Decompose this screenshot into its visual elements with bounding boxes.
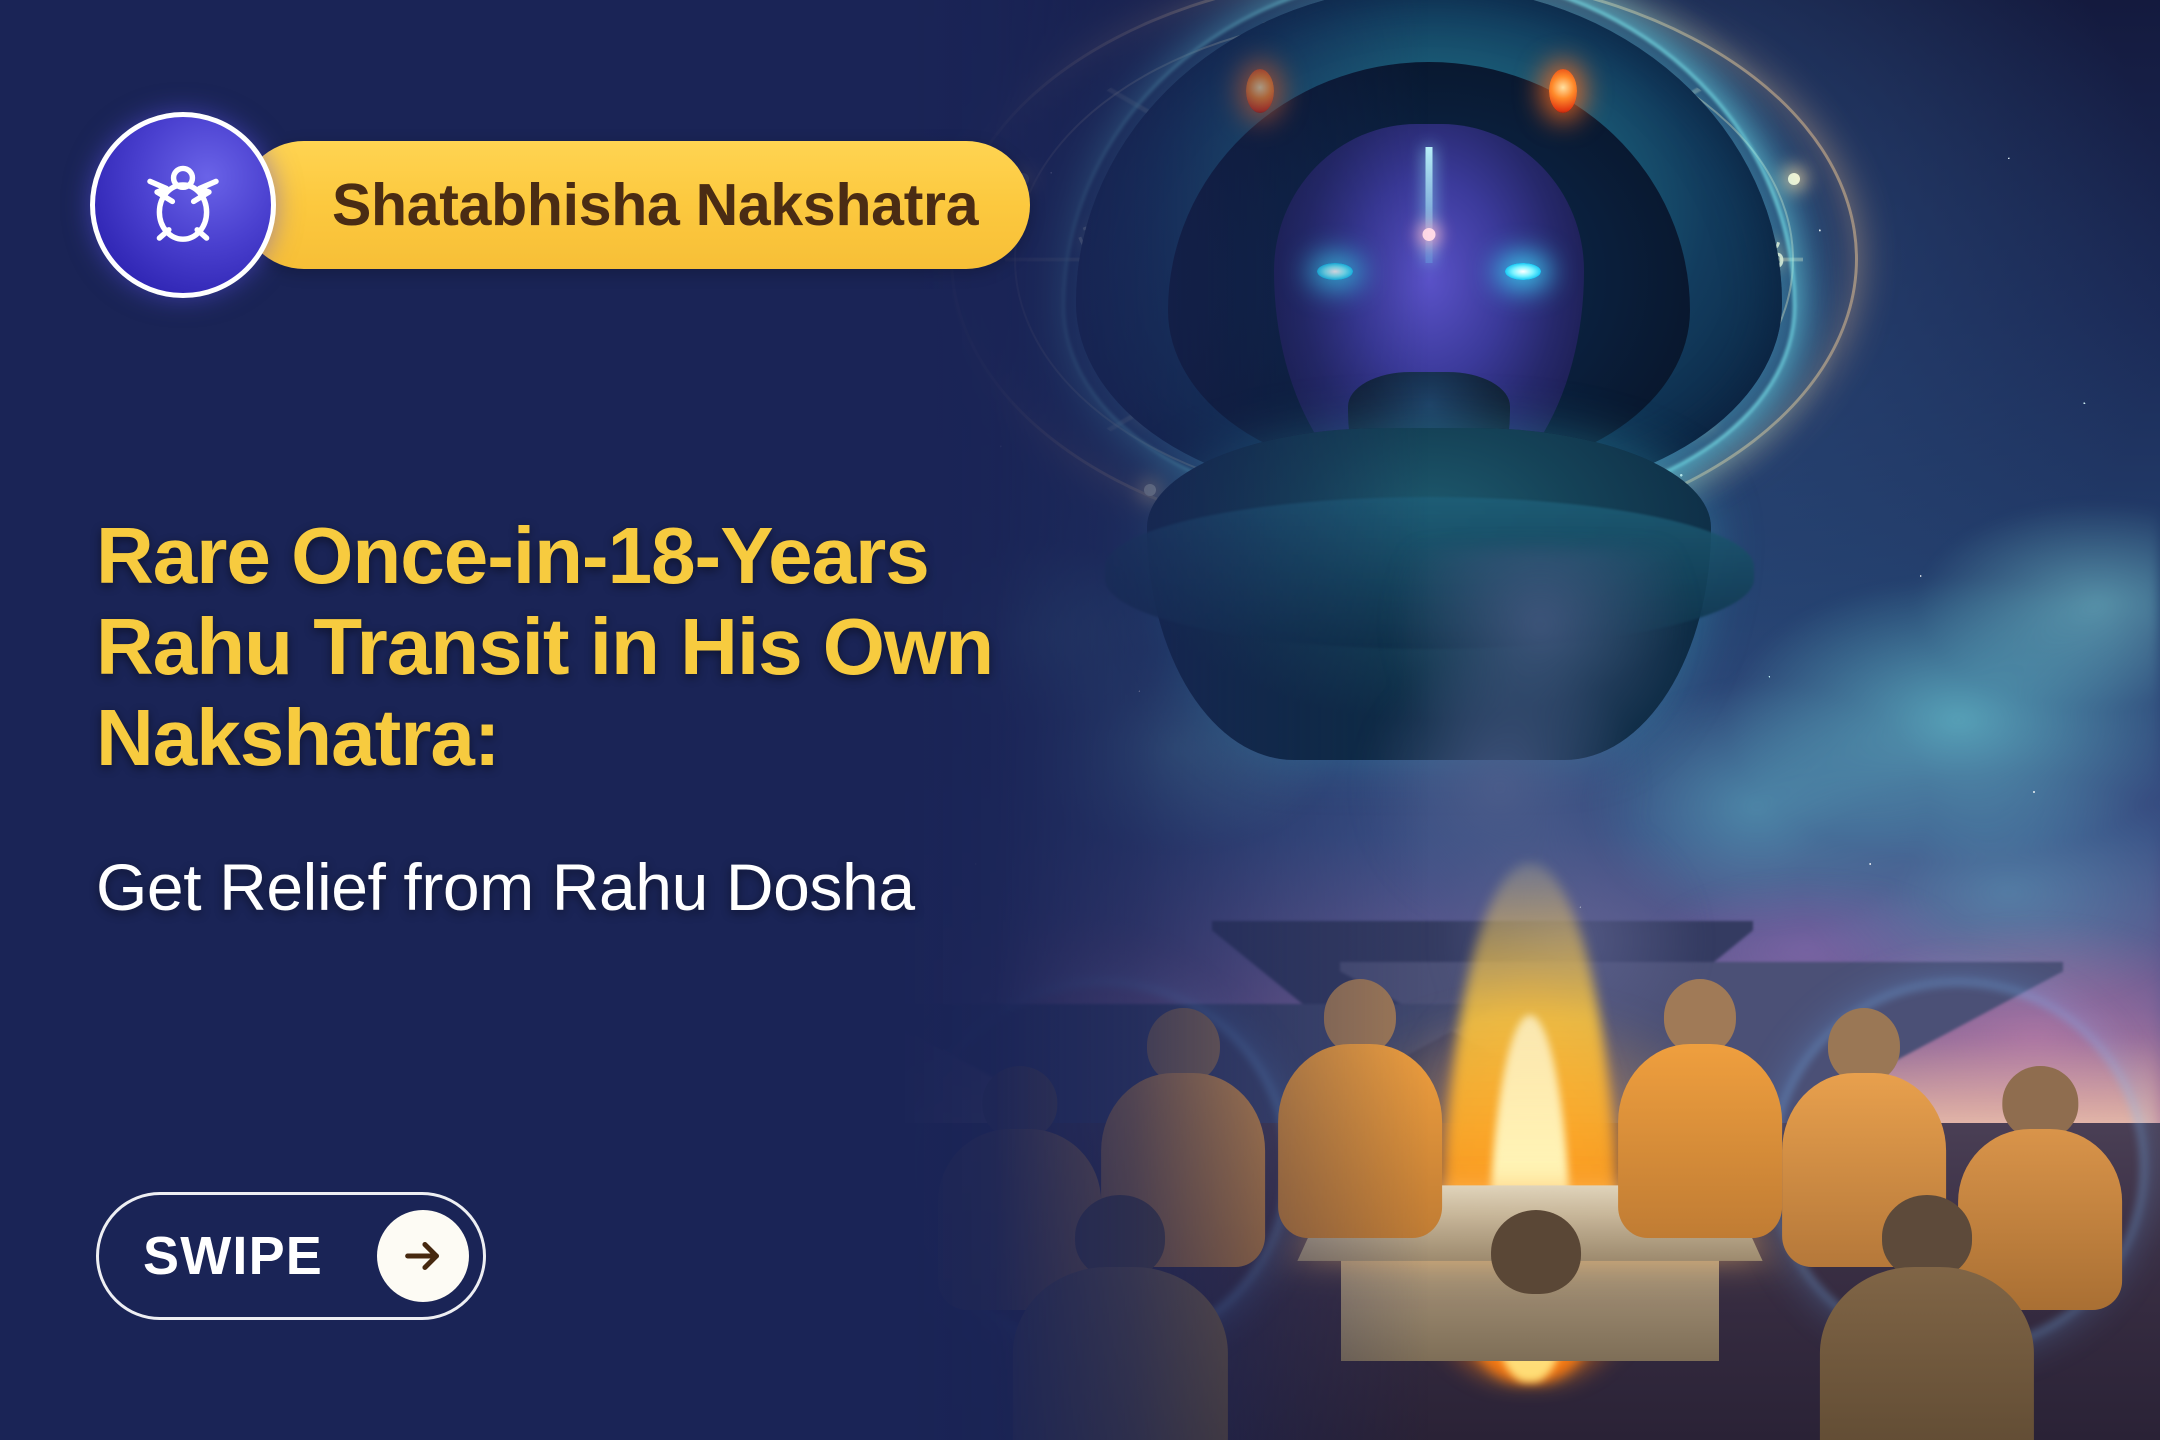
serpent-eye-right [1549, 69, 1577, 113]
nakshatra-badge-label: Shatabhisha Nakshatra [332, 171, 978, 239]
priest-head [1882, 1195, 1972, 1279]
arrow-right-icon[interactable] [377, 1210, 469, 1302]
content-panel: Shatabhisha Nakshatra Rare Once-in-18-Ye… [0, 0, 1060, 1440]
priest-figure-foreground [1429, 1210, 1643, 1440]
swipe-button-label: SWIPE [143, 1225, 323, 1287]
priest-figure-foreground [1820, 1195, 2034, 1440]
social-media-promo-card: ॐ ॐ ॐ ॐ ॐ ॐ [0, 0, 2160, 1440]
arrow-right-glyph [400, 1233, 446, 1279]
priest-head [2003, 1066, 2078, 1139]
nakshatra-badge: Shatabhisha Nakshatra [90, 112, 1030, 298]
priest-figure [1618, 979, 1782, 1238]
page-subtitle: Get Relief from Rahu Dosha [96, 845, 976, 929]
priest-robe [1820, 1267, 2034, 1440]
turtle-lightning-glyph [124, 146, 242, 264]
swipe-button[interactable]: SWIPE [96, 1192, 486, 1320]
zodiac-node-dot [1788, 173, 1800, 185]
priest-robe [1429, 1282, 1643, 1440]
artwork-illustration: ॐ ॐ ॐ ॐ ॐ ॐ [900, 0, 2160, 1440]
nakshatra-turtle-lightning-icon [90, 112, 276, 298]
deity-eye-right [1505, 263, 1541, 280]
nakshatra-badge-pill: Shatabhisha Nakshatra [240, 141, 1030, 269]
page-title: Rare Once-in-18-Years Rahu Transit in Hi… [96, 510, 996, 784]
